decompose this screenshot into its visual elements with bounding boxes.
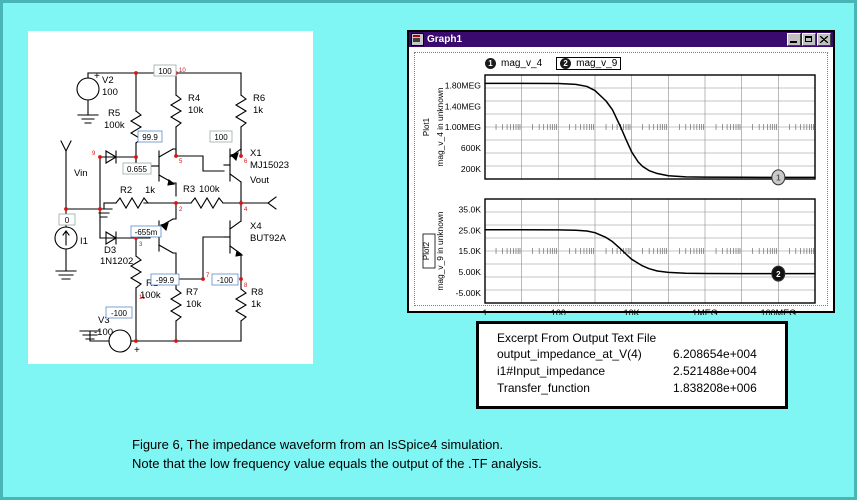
svg-text:100: 100 [214,133,228,142]
window-title: Graph1 [427,34,462,45]
label-r8-ref: R8 [251,287,263,298]
legend-entry-mag-v-4[interactable]: 1 mag_v_4 [485,58,542,69]
y-tick-label: 15.0K [459,246,482,256]
x-axis: 110010K1MEG100MEGfrequency in hertz [482,308,796,315]
node-number-10: 10 [179,68,186,74]
label-r5-value: 100k [104,120,125,131]
svg-text:100: 100 [158,67,172,76]
output-value-input-impedance: 2.521488e+004 [673,363,757,380]
y-tick-label: 35.0K [459,205,482,215]
label-i1-ref: I1 [80,236,88,247]
label-r4-ref: R4 [188,93,200,104]
label-r7-ref: R7 [186,287,198,298]
chart-legend: 1 mag_v_4 2 mag_v_9 [485,57,621,70]
label-r5-ref: R5 [108,108,120,119]
label-r2-ref: R2 [120,185,132,196]
y-tick-label: 25.0K [459,225,482,235]
label-v2-polarity: + [94,71,100,82]
label-x1-model: MJ15023 [250,160,289,171]
label-vin: Vin [74,168,88,179]
page-root: 10 5 6 9 2 4 3 7 8 11 V2 100 + R5 100k R… [3,3,854,497]
graph-titlebar[interactable]: Graph1 [409,32,833,47]
output-row-input-impedance: i1#Input_impedance 2.521488e+004 [497,363,785,380]
label-d3-ref: D3 [104,245,116,256]
node-voltage-100-r6: 100 [210,131,232,142]
output-row-output-impedance: output_impedance_at_V(4) 6.208654e+004 [497,346,785,363]
label-v2-ref: V2 [102,75,114,86]
plot-2: 35.0K25.0K15.0K5.00K-5.00K2Plot2mag_v_9 … [422,199,815,303]
legend-label-1: mag_v_4 [501,58,542,69]
y-tick-label: 1.80MEG [445,81,482,91]
label-vout: Vout [250,175,269,186]
node-voltage-0: 0 [59,214,75,225]
x-tick-label: 100 [551,308,566,315]
x-tick-label: 10K [624,308,640,315]
schematic-panel: 10 5 6 9 2 4 3 7 8 11 V2 100 + R5 100k R… [28,31,313,364]
graph-window[interactable]: Graph1 1 mag_v_4 2 mag_v_9 [407,30,835,313]
label-r3-value: 100k [199,184,220,195]
svg-text:-100: -100 [217,276,234,285]
svg-text:0.655: 0.655 [127,165,148,174]
graph-client-area: 1 mag_v_4 2 mag_v_9 1.80MEG1.40MEG1.00ME… [409,47,833,311]
node-dots [64,71,243,343]
y-tick-label: 200K [461,164,481,174]
maximize-button[interactable] [802,33,816,46]
output-label-transfer-function: Transfer_function [497,380,673,397]
y-tick-label: 600K [461,143,481,153]
data-curve-mag_v_4 [485,83,815,177]
x-tick-label: 1 [482,308,487,315]
svg-text:99.9: 99.9 [142,133,158,142]
node-voltage-100-top: 100 [154,65,176,76]
window-controls[interactable] [787,33,832,46]
data-curve-mag_v_9 [485,230,815,274]
graph-app-icon [411,33,424,46]
y-axis-label: mag_v_4 in unknown [435,87,445,166]
output-row-transfer-function: Transfer_function 1.838208e+006 [497,380,785,397]
svg-text:-100: -100 [111,309,128,318]
curve-marker-1: 1 [776,174,781,183]
node-voltage-minus100-x4: -100 [212,274,238,285]
output-label-output-impedance: output_impedance_at_V(4) [497,346,673,363]
label-x4-ref: X4 [250,221,262,232]
output-text-excerpt-box: Excerpt From Output Text File output_imp… [476,321,788,409]
label-r3-ref: R3 [183,184,195,195]
plot-1: 1.80MEG1.40MEG1.00MEG600K200K1Plot1mag_v… [422,75,815,185]
node-number-7: 7 [206,273,210,279]
y-tick-label: 1.40MEG [445,101,482,111]
minimize-button[interactable] [787,33,801,46]
node-number-5: 5 [179,159,183,165]
schematic-diagram: 10 5 6 9 2 4 3 7 8 11 V2 100 + R5 100k R… [28,31,313,364]
output-box-title: Excerpt From Output Text File [497,331,785,345]
y-tick-label: -5.00K [456,288,482,298]
node-number-6: 6 [244,159,248,165]
label-d3-model: 1N1202 [100,256,133,267]
label-r8-value: 1k [251,299,261,310]
graph-canvas: 1 mag_v_4 2 mag_v_9 1.80MEG1.40MEG1.00ME… [414,52,828,306]
label-x4-model: BUT92A [250,233,287,244]
legend-marker-2: 2 [560,58,571,69]
label-r2-value: 1k [145,185,155,196]
legend-marker-1: 1 [485,58,496,69]
label-r4-value: 10k [188,105,204,116]
node-voltage-minus100-v3: -100 [106,307,132,318]
svg-text:-655m: -655m [135,228,158,237]
label-v3-polarity: + [134,345,140,356]
x-tick-label: 1MEG [692,308,718,315]
y-axis-label: mag_v_9 in unknown [435,211,445,290]
node-number-9: 9 [92,151,96,157]
node-voltage-99-9: 99.9 [138,131,162,142]
y-tick-label: 5.00K [459,267,482,277]
output-value-transfer-function: 1.838208e+006 [673,380,757,397]
x-tick-label: 100MEG [761,308,797,315]
node-voltage-minus655m: -655m [131,226,161,237]
output-value-output-impedance: 6.208654e+004 [673,346,757,363]
node-number-3: 3 [139,242,143,248]
plots-svg: 1.80MEG1.40MEG1.00MEG600K200K1Plot1mag_v… [415,71,827,315]
output-label-input-impedance: i1#Input_impedance [497,363,673,380]
y-tick-label: 1.00MEG [445,122,482,132]
legend-entry-mag-v-9[interactable]: 2 mag_v_9 [556,57,621,70]
label-r7-value: 10k [186,299,202,310]
node-voltage-minus99-9: -99.9 [151,274,179,285]
curve-marker-2: 2 [776,270,781,279]
label-v2-value: 100 [102,87,118,98]
label-x1-ref: X1 [250,148,262,159]
caption-line-1: Figure 6, The impedance waveform from an… [132,435,732,454]
svg-text:0: 0 [65,216,70,225]
figure-caption: Figure 6, The impedance waveform from an… [132,435,732,473]
caption-line-2: Note that the low frequency value equals… [132,454,732,473]
node-voltage-0-655: 0.655 [123,163,151,174]
svg-text:-99.9: -99.9 [156,276,175,285]
label-r6-value: 1k [253,105,263,116]
label-v3-value: -100 [94,327,113,338]
node-number-8: 8 [244,283,248,289]
label-r1-value: 100k [140,290,161,301]
node-number-2: 2 [179,207,183,213]
legend-label-2: mag_v_9 [576,58,617,69]
close-icon[interactable] [817,33,831,46]
plot-name-label: Plot1 [422,117,431,136]
label-r6-ref: R6 [253,93,265,104]
node-number-4: 4 [244,207,248,213]
